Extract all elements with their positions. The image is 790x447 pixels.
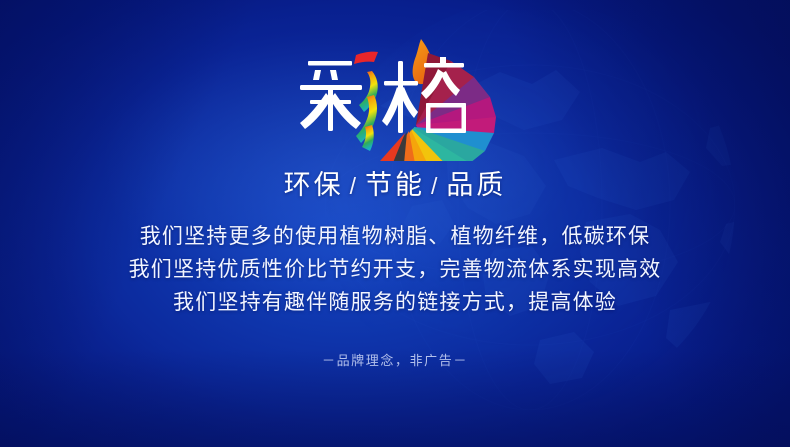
body-lines: 我们坚持更多的使用植物树脂、植物纤维，低碳环保 我们坚持优质性价比节约开支，完善… [0,220,790,319]
body-line-2: 我们坚持优质性价比节约开支，完善物流体系实现高效 [0,253,790,286]
tagline-item-2: 节能 [365,170,425,200]
logo-char-cai-accent [354,52,378,151]
tagline-item-1: 环保 [284,170,344,200]
body-line-1: 我们坚持更多的使用植物树脂、植物纤维，低碳环保 [0,220,790,253]
body-line-3: 我们坚持有趣伴随服务的链接方式，提高体验 [0,286,790,319]
tagline: 环保/节能/品质 [0,172,790,199]
footnote: －品牌理念，非广告－ [0,350,790,369]
tagline-separator-2: / [425,173,446,199]
caige-logo [288,33,502,161]
brand-philosophy-banner: 环保/节能/品质 我们坚持更多的使用植物树脂、植物纤维，低碳环保 我们坚持优质性… [0,0,790,447]
tagline-item-3: 品质 [446,170,506,200]
logo-container [0,33,790,161]
logo-char-cai [300,61,362,131]
tagline-separator-1: / [344,173,365,199]
logo-fan [372,39,496,161]
